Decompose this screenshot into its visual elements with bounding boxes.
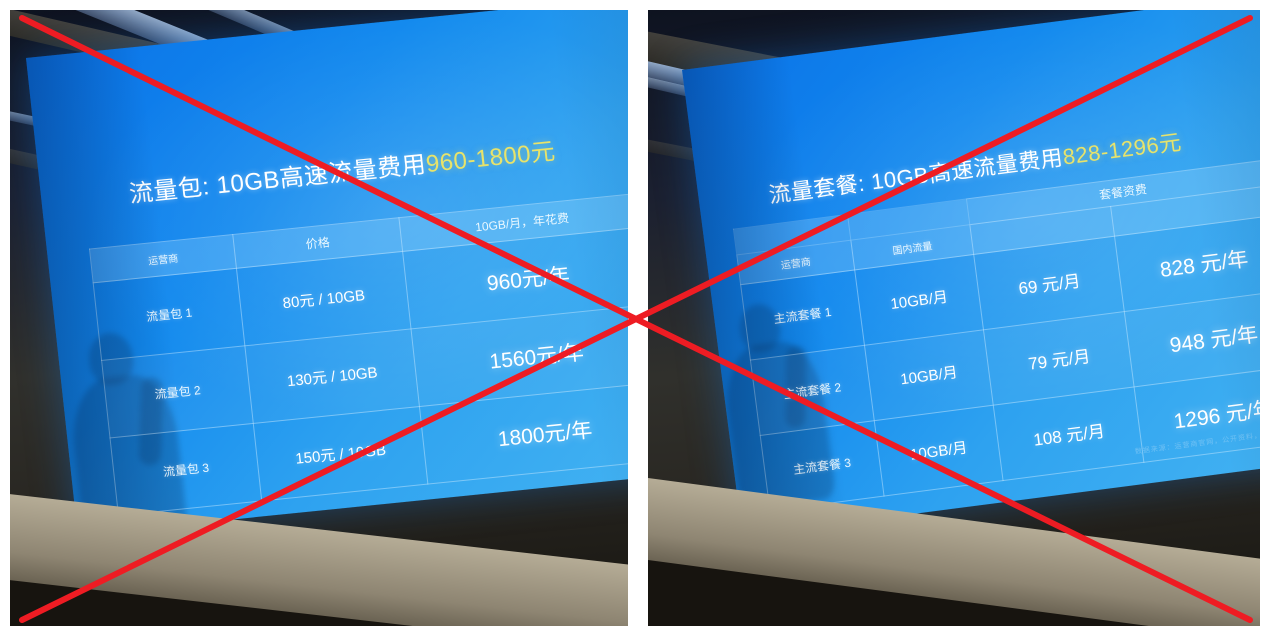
photo-panel-left: 流量包: 10GB高速流量费用960-1800元 运营商 价格 10GB/月，年…	[10, 10, 628, 626]
panel-gutter	[628, 0, 648, 636]
figure-root: 流量包: 10GB高速流量费用960-1800元 运营商 价格 10GB/月，年…	[0, 0, 1270, 636]
projection-screen-right: 流量套餐: 10GB高速流量费用828-1296元 套餐资费 运营商 国内流量	[682, 10, 1260, 536]
screen-edge-shading	[26, 10, 628, 535]
photo-panel-right: 流量套餐: 10GB高速流量费用828-1296元 套餐资费 运营商 国内流量	[648, 10, 1260, 626]
projection-screen-left: 流量包: 10GB高速流量费用960-1800元 运营商 价格 10GB/月，年…	[26, 10, 628, 535]
screen-edge-shading	[682, 10, 1260, 536]
